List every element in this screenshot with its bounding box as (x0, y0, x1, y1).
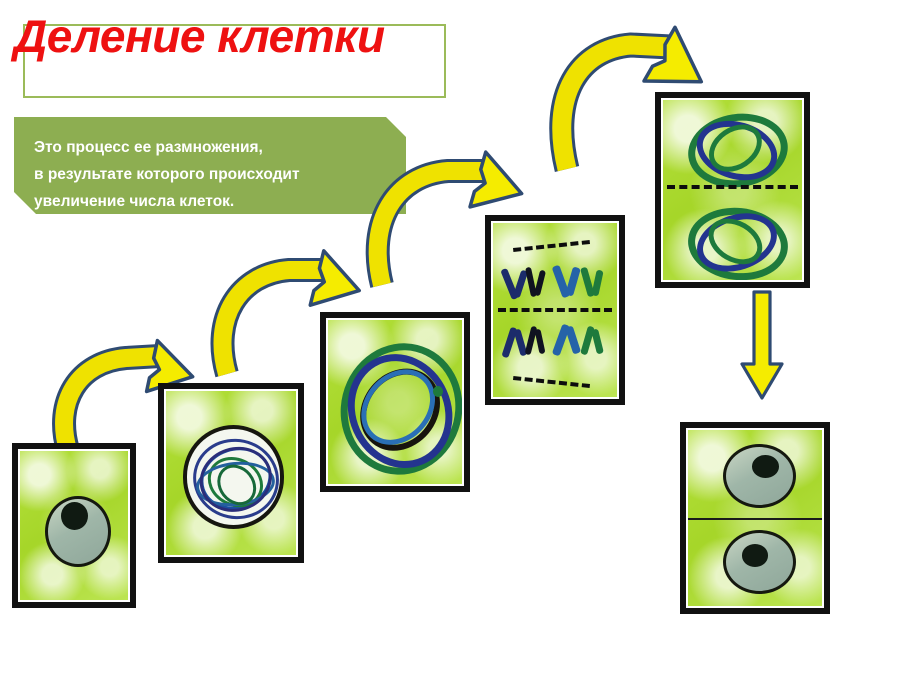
cell-panel-anaphase (485, 215, 625, 405)
cell-panel-telophase (655, 92, 810, 288)
cell-plate-divider (688, 518, 822, 520)
spindle-dash-bottom (513, 376, 590, 388)
chromosome-upper-4 (582, 267, 604, 312)
cell-panel-interphase (12, 443, 136, 608)
micrograph-interphase (18, 449, 130, 602)
chromosome-upper-3 (555, 265, 580, 312)
cleavage-dashed-line (667, 185, 798, 189)
daughter-nucleus-top (752, 455, 779, 478)
chromosome-lower-4 (582, 326, 604, 371)
chromatin-tangle-prophase (183, 425, 285, 528)
chromosome-upper-2 (526, 267, 548, 312)
chromosome-lower-3 (555, 324, 580, 371)
chromosome-lower-2 (526, 326, 548, 371)
slide-canvas: Деление клетки Это процесс ее размножени… (0, 0, 910, 683)
callout-line-3: увеличение числа клеток. (34, 188, 396, 215)
callout-line-2: в результате которого происходит (34, 161, 396, 188)
micrograph-anaphase (491, 221, 619, 399)
chromosome-upper-1 (504, 268, 529, 313)
cell-panel-daughter-cells (680, 422, 830, 614)
cell-panel-metaphase (320, 312, 470, 492)
micrograph-metaphase (326, 318, 464, 486)
micrograph-prophase (164, 389, 298, 557)
micrograph-telophase (661, 98, 804, 282)
micrograph-daughter-cells (686, 428, 824, 608)
centromere-dot (433, 386, 444, 397)
page-title: Деление клетки (14, 5, 414, 67)
description-callout-text: Это процесс ее размножения, в результате… (14, 117, 406, 214)
nucleus-interphase (61, 502, 88, 530)
arrow-telophase-to-daughter (736, 290, 788, 402)
equator-dashed-line (498, 308, 612, 312)
callout-line-1: Это процесс ее размножения, (34, 134, 396, 161)
cell-panel-prophase (158, 383, 304, 563)
spindle-dash-top (513, 240, 590, 252)
